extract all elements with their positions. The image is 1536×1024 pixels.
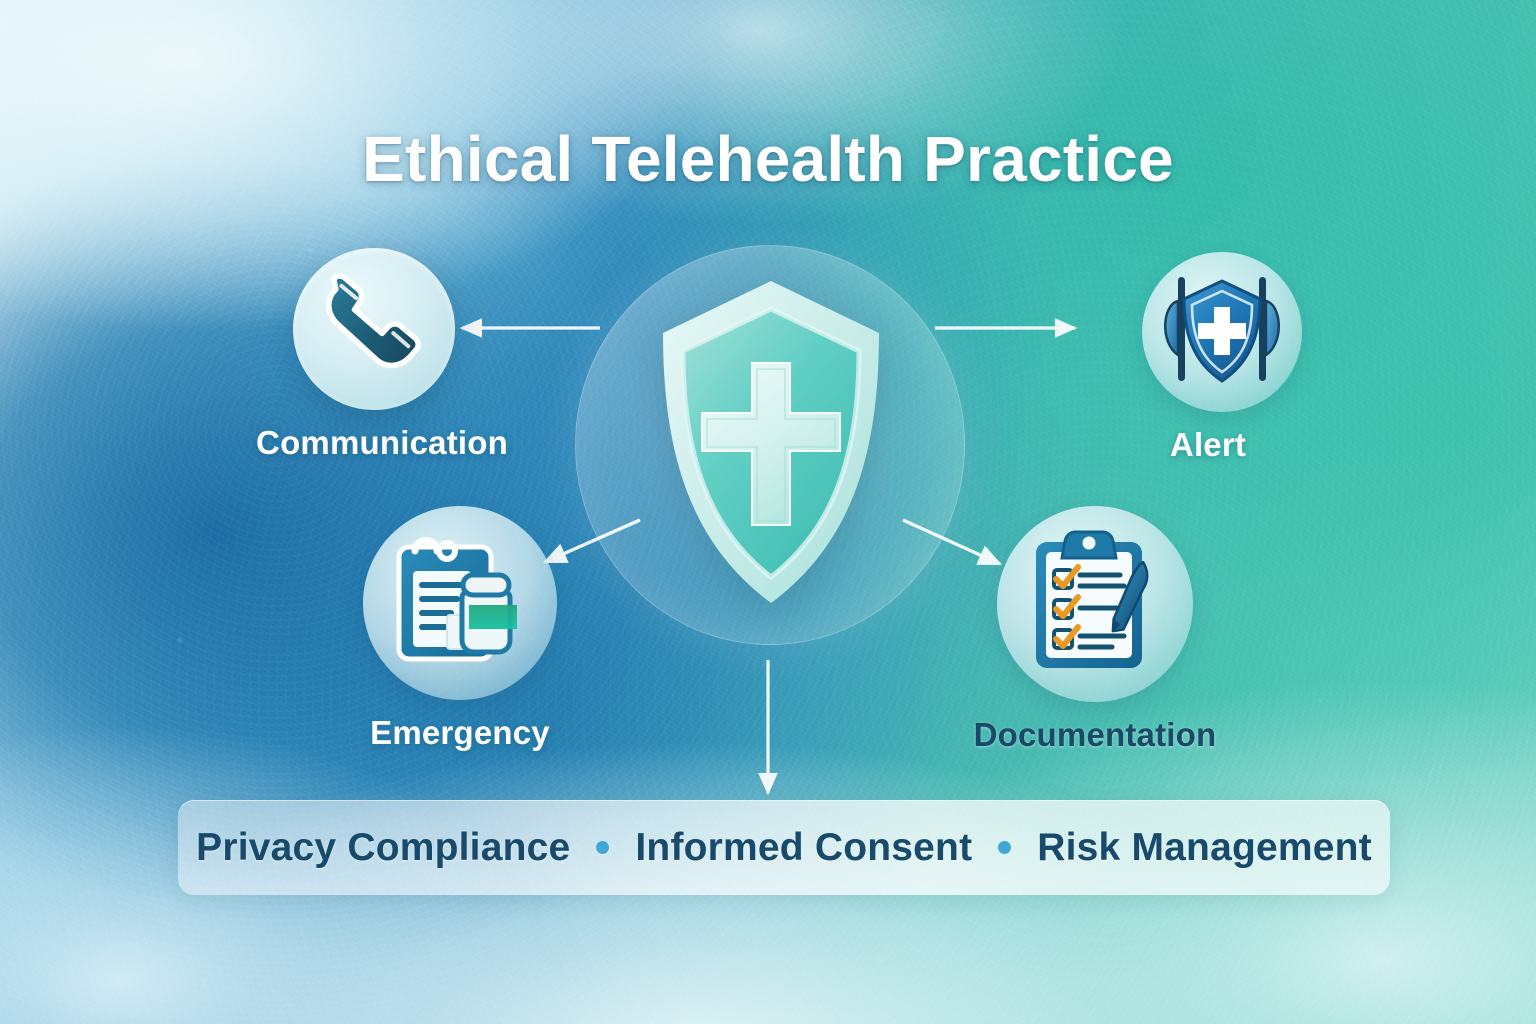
clipboard-medicine-icon	[385, 529, 535, 677]
node-communication[interactable]: Communication	[232, 248, 532, 462]
node-alert[interactable]: Alert	[1063, 252, 1353, 464]
communication-icon-disc	[293, 248, 455, 410]
central-hub	[575, 245, 965, 645]
footer-item-informed-consent[interactable]: Informed Consent	[635, 826, 972, 870]
footer-keywords-bar: Privacy Compliance Informed Consent Risk…	[178, 800, 1390, 895]
node-alert-label: Alert	[1063, 426, 1353, 464]
footer-separator-dot-1	[596, 841, 609, 854]
page-title: Ethical Telehealth Practice	[0, 122, 1536, 196]
documentation-icon-disc	[997, 506, 1193, 702]
footer-item-risk-management[interactable]: Risk Management	[1037, 826, 1372, 870]
emergency-icon-disc	[363, 506, 557, 700]
footer-separator-dot-2	[998, 841, 1011, 854]
infographic-canvas: Ethical Telehealth Practice	[0, 0, 1536, 1024]
alert-icon-disc	[1142, 252, 1302, 412]
clipboard-checklist-pen-icon	[1020, 526, 1170, 682]
node-documentation-label: Documentation	[940, 716, 1250, 754]
medical-shield-icon	[653, 277, 889, 607]
node-documentation[interactable]: Documentation	[940, 506, 1250, 754]
node-emergency-label: Emergency	[330, 714, 590, 752]
shield-cross-alert-icon	[1156, 271, 1288, 393]
node-communication-label: Communication	[232, 424, 532, 462]
footer-item-privacy-compliance[interactable]: Privacy Compliance	[196, 826, 570, 870]
node-emergency[interactable]: Emergency	[330, 506, 590, 752]
phone-handset-icon	[309, 264, 439, 394]
